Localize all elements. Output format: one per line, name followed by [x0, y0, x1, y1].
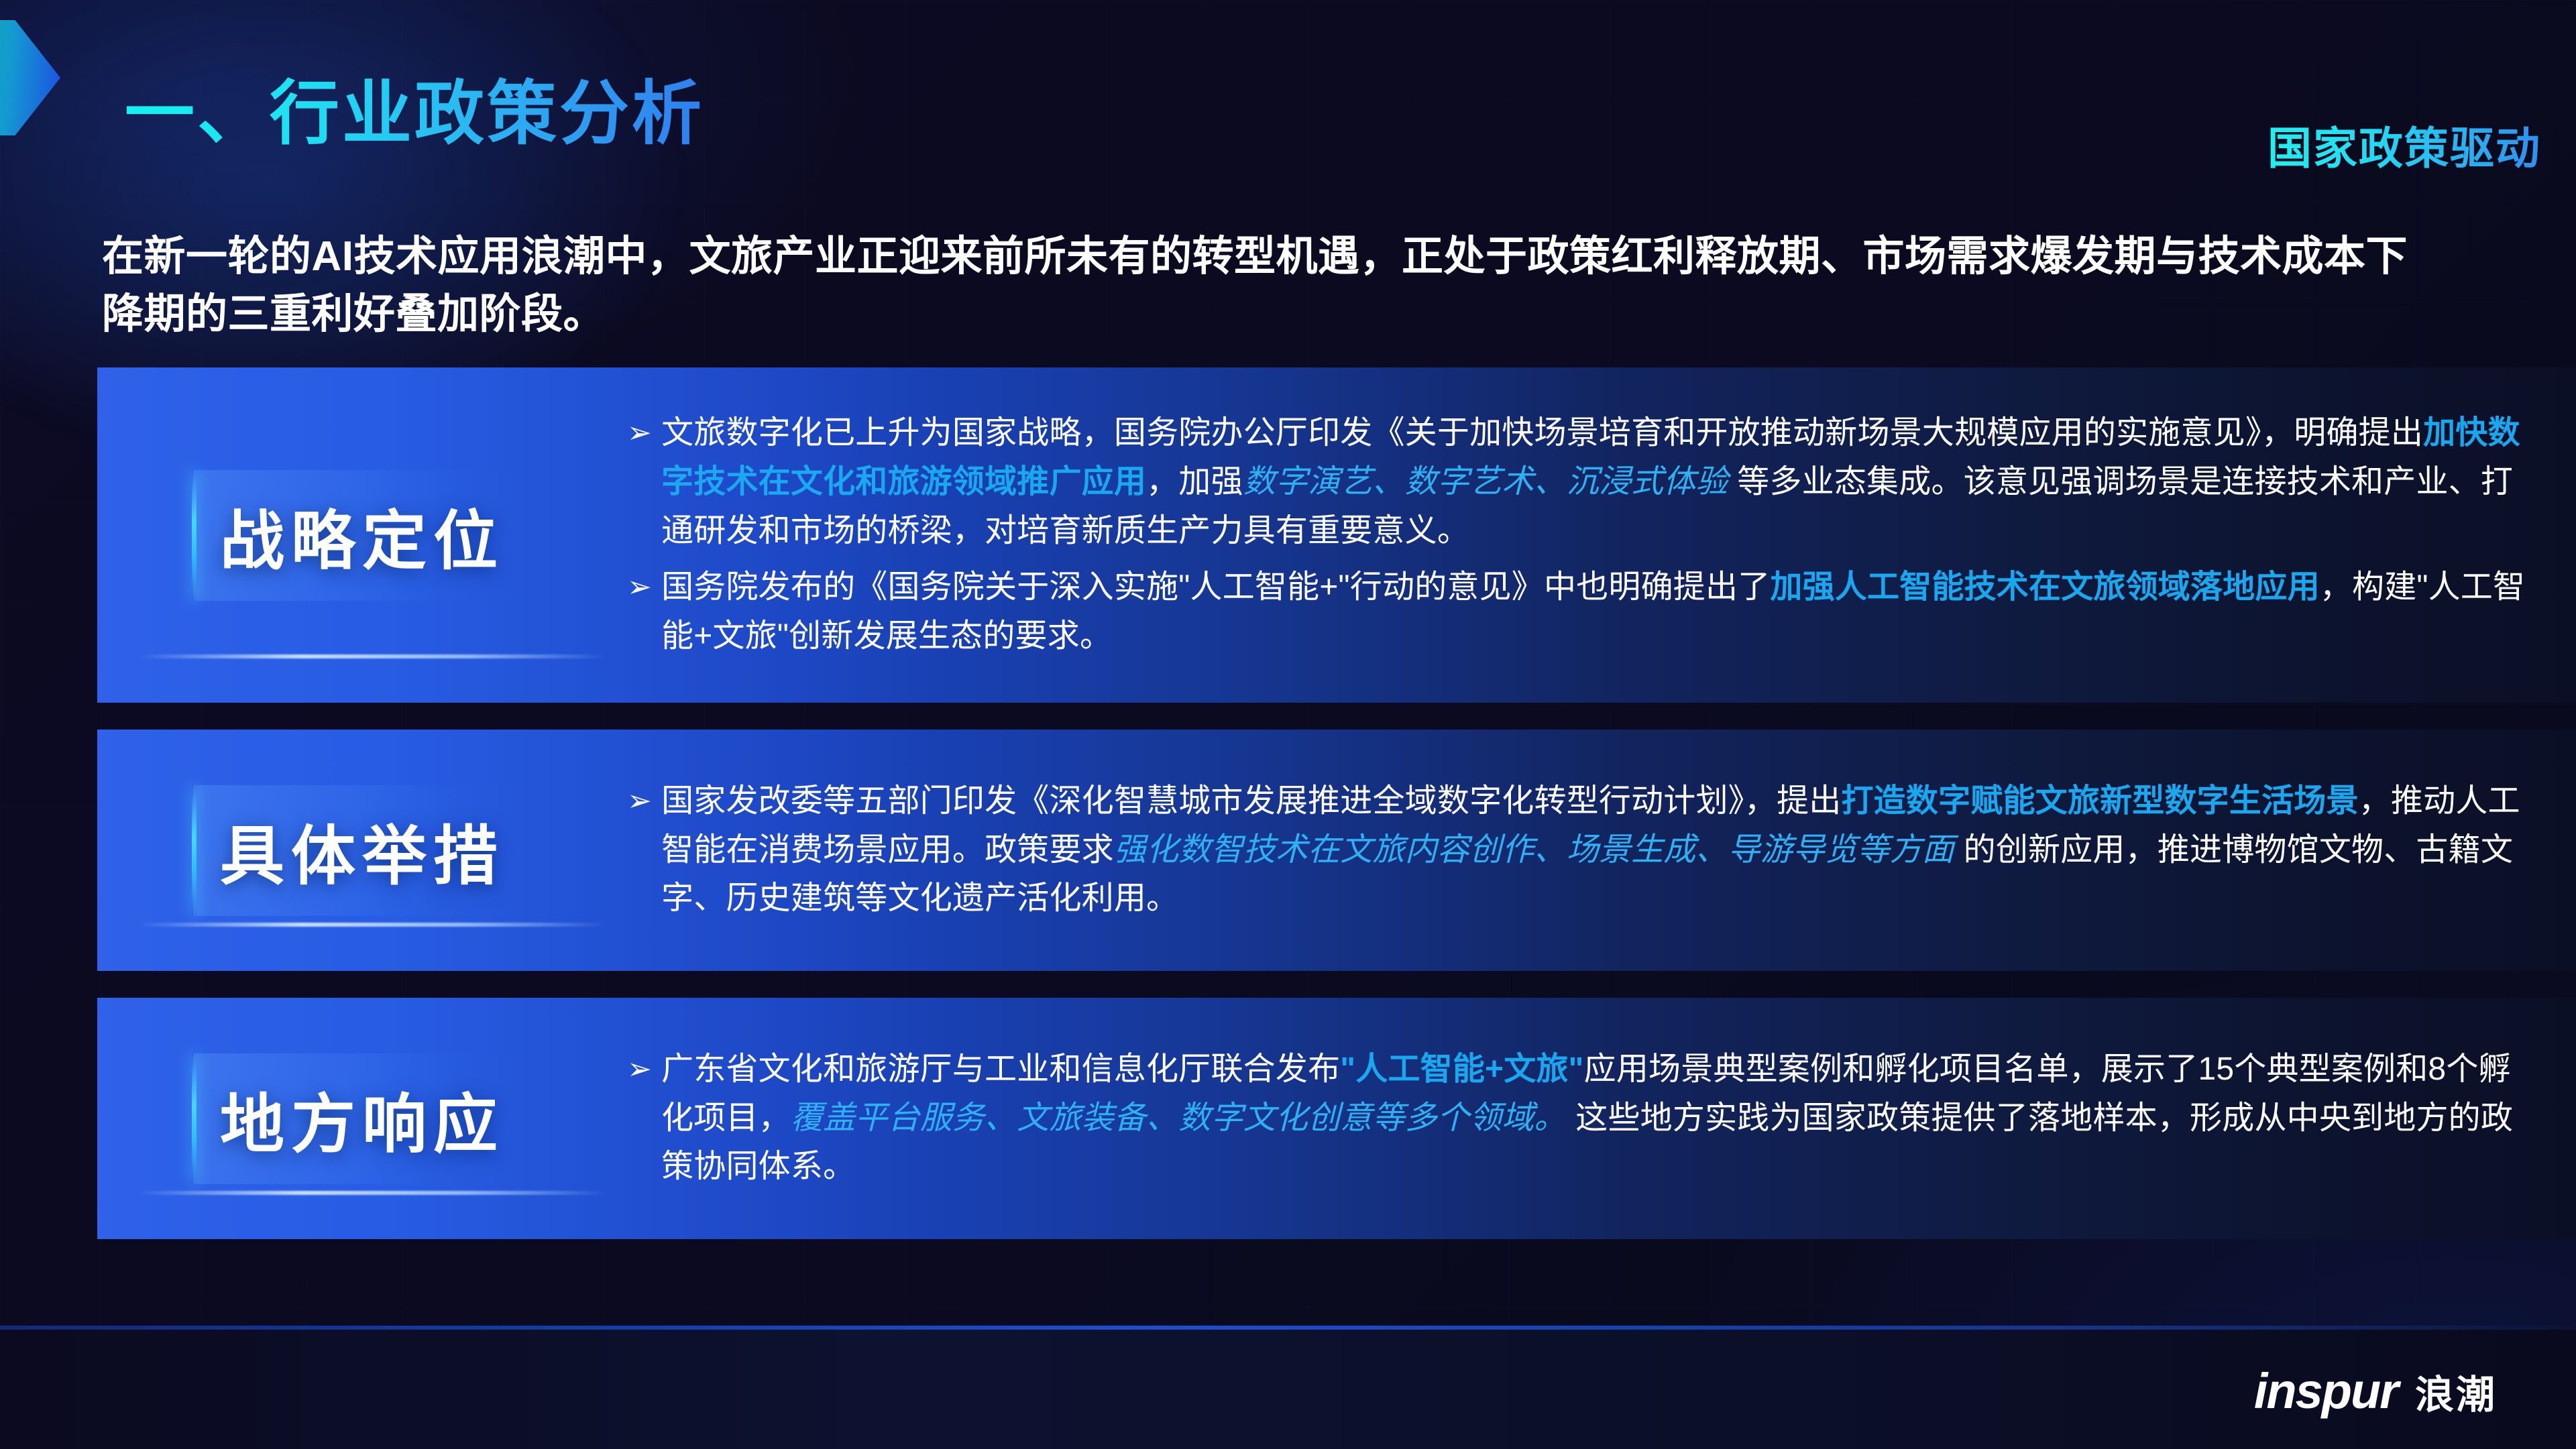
- lede-paragraph: 在新一轮的AI技术应用浪潮中，文旅产业正迎来前所未有的转型机遇，正处于政策红利释…: [102, 228, 2449, 343]
- logo-en-text: inspur: [2254, 1363, 2398, 1419]
- bullet-text: 文旅数字化已上升为国家战略，国务院办公厅印发《关于加快场景培育和开放推动新场景大…: [661, 409, 2532, 556]
- plain-run: 文旅数字化已上升为国家战略，国务院办公厅印发《关于加快场景培育和开放推动新场景大…: [661, 415, 2423, 451]
- plain-run: 国家发改委等五部门印发《深化智慧城市发展推进全域数字化转型行动计划》，提出: [661, 783, 1841, 819]
- card-label-inner: 具体举措: [197, 789, 527, 912]
- card-label-text: 地方响应: [220, 1089, 504, 1161]
- card-label-text: 具体举措: [220, 821, 504, 892]
- page-title: 一、行业政策分析: [125, 75, 704, 153]
- italic-run: 强化数智技术在文旅内容创作、场景生成、导游导览等方面: [1114, 832, 1954, 868]
- card-label-inner: 地方响应: [197, 1057, 527, 1180]
- label-accent-bar-icon: [192, 785, 197, 916]
- bullet-arrow-icon: ➢: [627, 777, 652, 825]
- card-label-text: 战略定位: [220, 506, 504, 577]
- card-body: ➢文旅数字化已上升为国家战略，国务院办公厅印发《关于加快场景培育和开放推动新场景…: [627, 367, 2576, 703]
- bullet-item: ➢文旅数字化已上升为国家战略，国务院办公厅印发《关于加快场景培育和开放推动新场景…: [627, 409, 2532, 556]
- highlighted-run: 打造数字赋能文旅新型数字生活场景: [1841, 783, 2358, 819]
- bullet-arrow-icon: ➢: [627, 563, 652, 611]
- italic-run: 覆盖平台服务、文旅装备、数字文化创意等多个领域。: [791, 1100, 1567, 1136]
- plain-run: ，加强: [1146, 464, 1243, 500]
- bullet-text: 广东省文化和旅游厅与工业和信息化厅联合发布"人工智能+文旅"应用场景典型案例和孵…: [661, 1045, 2532, 1192]
- header-badge: 国家政策驱动: [2267, 113, 2541, 177]
- logo-cn-text: 浪潮: [2415, 1363, 2497, 1419]
- policy-card: 具体举措➢国家发改委等五部门印发《深化智慧城市发展推进全域数字化转型行动计划》，…: [97, 730, 2576, 971]
- card-body: ➢广东省文化和旅游厅与工业和信息化厅联合发布"人工智能+文旅"应用场景典型案例和…: [627, 998, 2576, 1239]
- policy-card: 战略定位➢文旅数字化已上升为国家战略，国务院办公厅印发《关于加快场景培育和开放推…: [97, 367, 2576, 703]
- bullet-arrow-icon: ➢: [627, 1045, 652, 1093]
- label-accent-bar-icon: [192, 470, 197, 601]
- inspur-logo: inspur 浪潮: [2254, 1363, 2497, 1419]
- label-accent-bar-icon: [192, 1053, 197, 1184]
- label-underline-decoration: [137, 654, 607, 658]
- label-underline-decoration: [137, 1191, 607, 1195]
- bullet-arrow-icon: ➢: [627, 409, 652, 457]
- card-label-block: 战略定位: [97, 367, 627, 703]
- card-label-block: 具体举措: [97, 730, 627, 971]
- card-label-block: 地方响应: [97, 998, 627, 1239]
- plain-run: 国务院发布的《国务院关于深入实施"人工智能+"行动的意见》中也明确提出了: [661, 569, 1770, 605]
- card-label-inner: 战略定位: [197, 474, 527, 597]
- footer-bar: [0, 1330, 2576, 1449]
- bullet-item: ➢国家发改委等五部门印发《深化智慧城市发展推进全域数字化转型行动计划》，提出打造…: [627, 777, 2532, 924]
- bullet-item: ➢广东省文化和旅游厅与工业和信息化厅联合发布"人工智能+文旅"应用场景典型案例和…: [627, 1045, 2532, 1192]
- bullet-item: ➢国务院发布的《国务院关于深入实施"人工智能+"行动的意见》中也明确提出了加强人…: [627, 563, 2532, 661]
- highlighted-run: 加强人工智能技术在文旅领域落地应用: [1770, 569, 2319, 605]
- bullet-text: 国家发改委等五部门印发《深化智慧城市发展推进全域数字化转型行动计划》，提出打造数…: [661, 777, 2532, 924]
- policy-card: 地方响应➢广东省文化和旅游厅与工业和信息化厅联合发布"人工智能+文旅"应用场景典…: [97, 998, 2576, 1239]
- policy-cards-container: 战略定位➢文旅数字化已上升为国家战略，国务院办公厅印发《关于加快场景培育和开放推…: [97, 367, 2576, 1266]
- plain-run: 广东省文化和旅游厅与工业和信息化厅联合发布: [661, 1051, 1340, 1087]
- card-body: ➢国家发改委等五部门印发《深化智慧城市发展推进全域数字化转型行动计划》，提出打造…: [627, 730, 2576, 971]
- bullet-text: 国务院发布的《国务院关于深入实施"人工智能+"行动的意见》中也明确提出了加强人工…: [661, 563, 2532, 661]
- highlighted-run: "人工智能+文旅": [1340, 1051, 1583, 1087]
- italic-run: 数字演艺、数字艺术、沉浸式体验: [1243, 464, 1728, 500]
- label-underline-decoration: [137, 923, 607, 927]
